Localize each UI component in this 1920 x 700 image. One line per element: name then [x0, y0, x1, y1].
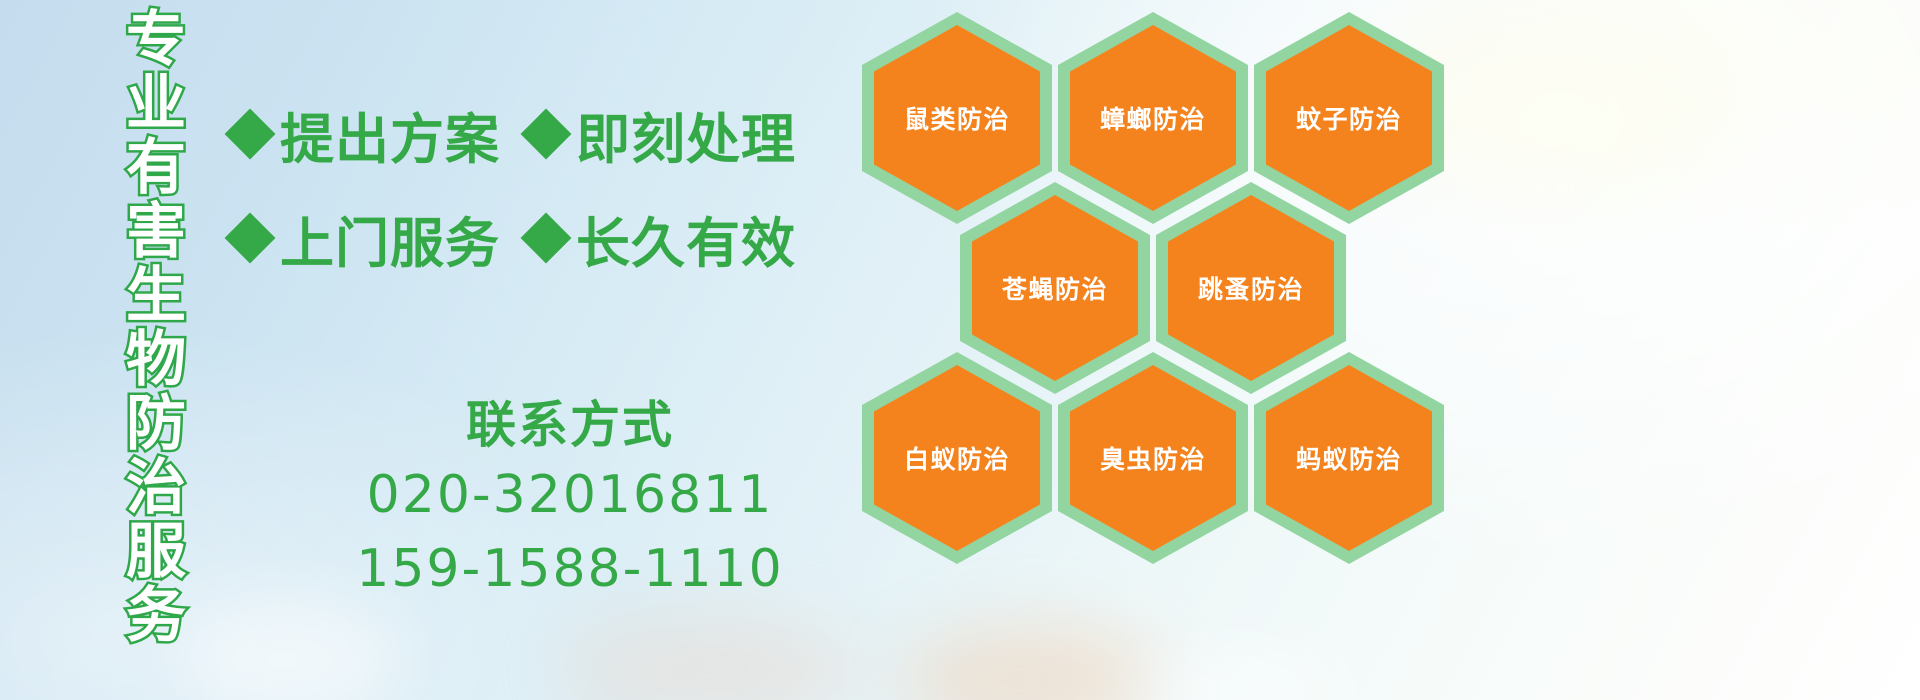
- hex-inner: 跳蚤防治: [1168, 195, 1334, 381]
- feature-label: 即刻处理: [576, 95, 796, 174]
- vertical-headline-char: 防: [126, 392, 186, 456]
- hex-cell-bedbug-control[interactable]: 臭虫防治: [1058, 352, 1248, 564]
- feature-label: 长久有效: [576, 199, 796, 278]
- diamond-bullet-icon: [225, 213, 276, 264]
- feature-item-immediate-handling: 即刻处理: [528, 95, 796, 174]
- contact-phone-mobile[interactable]: 159-1588-1110: [330, 532, 810, 606]
- vertical-headline-char: 害: [126, 200, 186, 264]
- feature-item-long-lasting: 长久有效: [528, 199, 796, 278]
- vertical-headline: 专 业 有 害 生 物 防 治 服 务: [104, 8, 208, 588]
- hex-label: 蚊子防治: [1296, 100, 1402, 136]
- feature-row: 提出方案 即刻处理: [232, 82, 872, 186]
- vertical-headline-char: 治: [126, 456, 186, 520]
- hex-cell-fly-control[interactable]: 苍蝇防治: [960, 182, 1150, 394]
- hex-inner: 苍蝇防治: [972, 195, 1138, 381]
- hex-cell-flea-control[interactable]: 跳蚤防治: [1156, 182, 1346, 394]
- diamond-bullet-icon: [225, 109, 276, 160]
- diamond-bullet-icon: [521, 109, 572, 160]
- feature-item-onsite-service: 上门服务: [232, 199, 500, 278]
- hex-cell-mosquito-control[interactable]: 蚊子防治: [1254, 12, 1444, 224]
- hex-label: 跳蚤防治: [1198, 270, 1304, 306]
- hex-label: 苍蝇防治: [1002, 270, 1108, 306]
- background-blur-blob: [1140, 650, 1340, 700]
- background-blur-blob: [180, 600, 400, 700]
- hex-inner: 鼠类防治: [874, 25, 1040, 211]
- feature-item-propose-plan: 提出方案: [232, 95, 500, 174]
- hex-label: 臭虫防治: [1100, 440, 1206, 476]
- hex-inner: 蟑螂防治: [1070, 25, 1236, 211]
- vertical-headline-char: 有: [126, 136, 186, 200]
- vertical-headline-char: 物: [126, 328, 186, 392]
- hex-inner: 蚂蚁防治: [1266, 365, 1432, 551]
- hex-cell-rodent-control[interactable]: 鼠类防治: [862, 12, 1052, 224]
- feature-label: 提出方案: [280, 95, 500, 174]
- hex-inner: 臭虫防治: [1070, 365, 1236, 551]
- hex-inner: 白蚁防治: [874, 365, 1040, 551]
- background-blur-blob: [900, 625, 1160, 700]
- feature-label: 上门服务: [280, 199, 500, 278]
- hex-cell-termite-control[interactable]: 白蚁防治: [862, 352, 1052, 564]
- hex-label: 蟑螂防治: [1100, 100, 1206, 136]
- hex-label: 鼠类防治: [904, 100, 1010, 136]
- service-honeycomb: 鼠类防治 蟑螂防治 蚊子防治 苍蝇防治 跳蚤防治 白蚁防: [862, 4, 1462, 564]
- feature-list: 提出方案 即刻处理 上门服务 长久有效: [232, 82, 872, 290]
- vertical-headline-char: 服: [126, 520, 186, 584]
- contact-title: 联系方式: [330, 392, 810, 458]
- contact-phone-landline[interactable]: 020-32016811: [330, 458, 810, 532]
- background-blur-blob: [560, 615, 860, 700]
- contact-block: 联系方式 020-32016811 159-1588-1110: [330, 392, 810, 606]
- diamond-bullet-icon: [521, 213, 572, 264]
- hex-label: 蚂蚁防治: [1296, 440, 1402, 476]
- vertical-headline-char: 业: [126, 72, 186, 136]
- hex-label: 白蚁防治: [904, 440, 1010, 476]
- hex-cell-cockroach-control[interactable]: 蟑螂防治: [1058, 12, 1248, 224]
- hex-inner: 蚊子防治: [1266, 25, 1432, 211]
- promo-banner: 专 业 有 害 生 物 防 治 服 务 提出方案 即刻处理 上门服务: [0, 0, 1920, 700]
- vertical-headline-char: 生: [126, 264, 186, 328]
- vertical-headline-char: 专: [126, 8, 186, 72]
- feature-row: 上门服务 长久有效: [232, 186, 872, 290]
- hex-cell-ant-control[interactable]: 蚂蚁防治: [1254, 352, 1444, 564]
- vertical-headline-char: 务: [126, 584, 186, 648]
